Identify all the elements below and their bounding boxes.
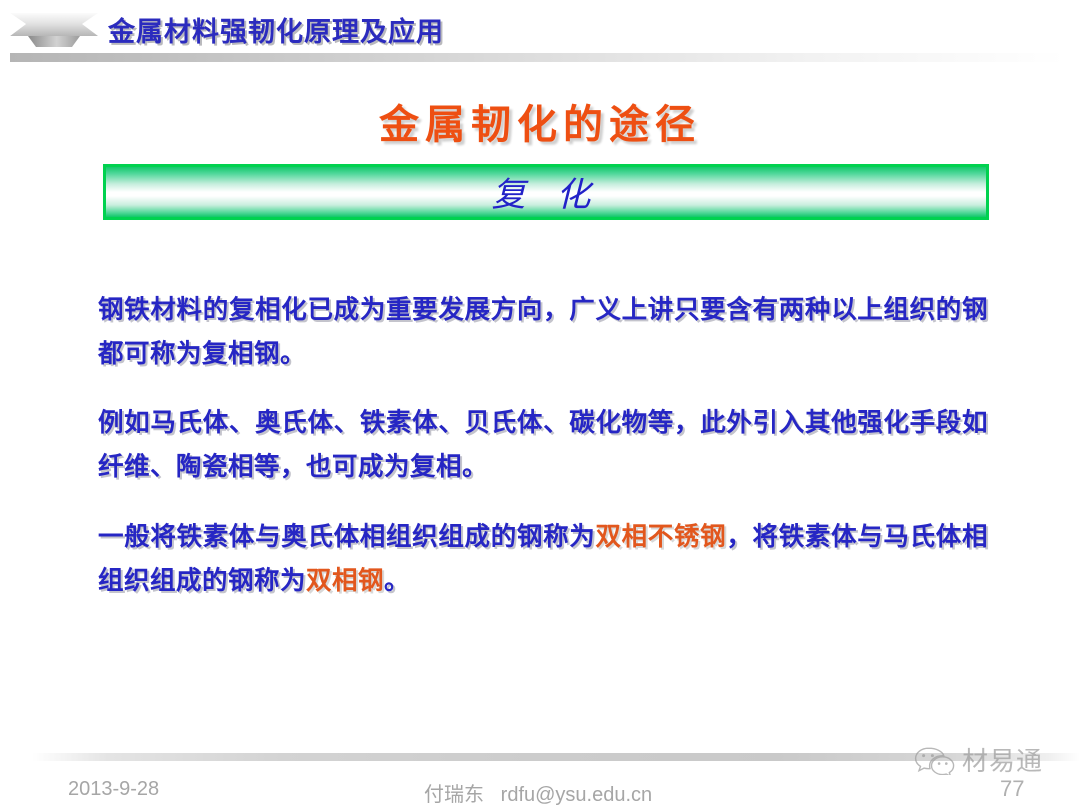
paragraph-text: 。 — [384, 566, 410, 596]
page-title: 金属韧化的途径 — [0, 92, 1080, 150]
paragraph-1: 钢铁材料的复相化已成为重要发展方向，广义上讲只要含有两种以上组织的钢都可称为复相… — [98, 288, 988, 376]
page-number: 77 — [1000, 776, 1024, 802]
header-title: 金属材料强韧化原理及应用 — [108, 10, 444, 49]
section-banner: 复 化 — [103, 164, 989, 220]
footer-author: 付瑞东 rdfu@ysu.edu.cn — [424, 778, 652, 807]
watermark-label: 材易通 — [962, 741, 1043, 778]
ribbon-banner-icon — [8, 11, 100, 49]
section-banner-label: 复 化 — [492, 167, 601, 216]
paragraph-text: 例如马氏体、奥氏体、铁素体、贝氏体、碳化物等，此外引入其他强化手段如纤维、陶瓷相… — [98, 408, 988, 482]
paragraph-text: 钢铁材料的复相化已成为重要发展方向，广义上讲只要含有两种以上组织的钢都可称为复相… — [98, 295, 988, 369]
footer-date: 2013-9-28 — [68, 778, 159, 801]
highlighted-term: 双相不锈钢 — [595, 522, 726, 552]
slide-header: 金属材料强韧化原理及应用 — [0, 0, 1080, 60]
body-content: 钢铁材料的复相化已成为重要发展方向，广义上讲只要含有两种以上组织的钢都可称为复相… — [98, 262, 988, 625]
wechat-icon — [912, 745, 956, 775]
paragraph-2: 例如马氏体、奥氏体、铁素体、贝氏体、碳化物等，此外引入其他强化手段如纤维、陶瓷相… — [98, 401, 988, 489]
slide-canvas: 金属材料强韧化原理及应用 金属韧化的途径 复 化 钢铁材料的复相化已成为重要发展… — [0, 0, 1080, 810]
paragraph-text: 一般将铁素体与奥氏体相组织组成的钢称为 — [98, 522, 595, 552]
watermark: 材易通 — [912, 741, 1043, 778]
highlighted-term: 双相钢 — [306, 566, 384, 596]
header-divider — [10, 53, 1065, 62]
paragraph-3: 一般将铁素体与奥氏体相组织组成的钢称为双相不锈钢，将铁素体与马氏体相组织组成的钢… — [98, 515, 988, 603]
